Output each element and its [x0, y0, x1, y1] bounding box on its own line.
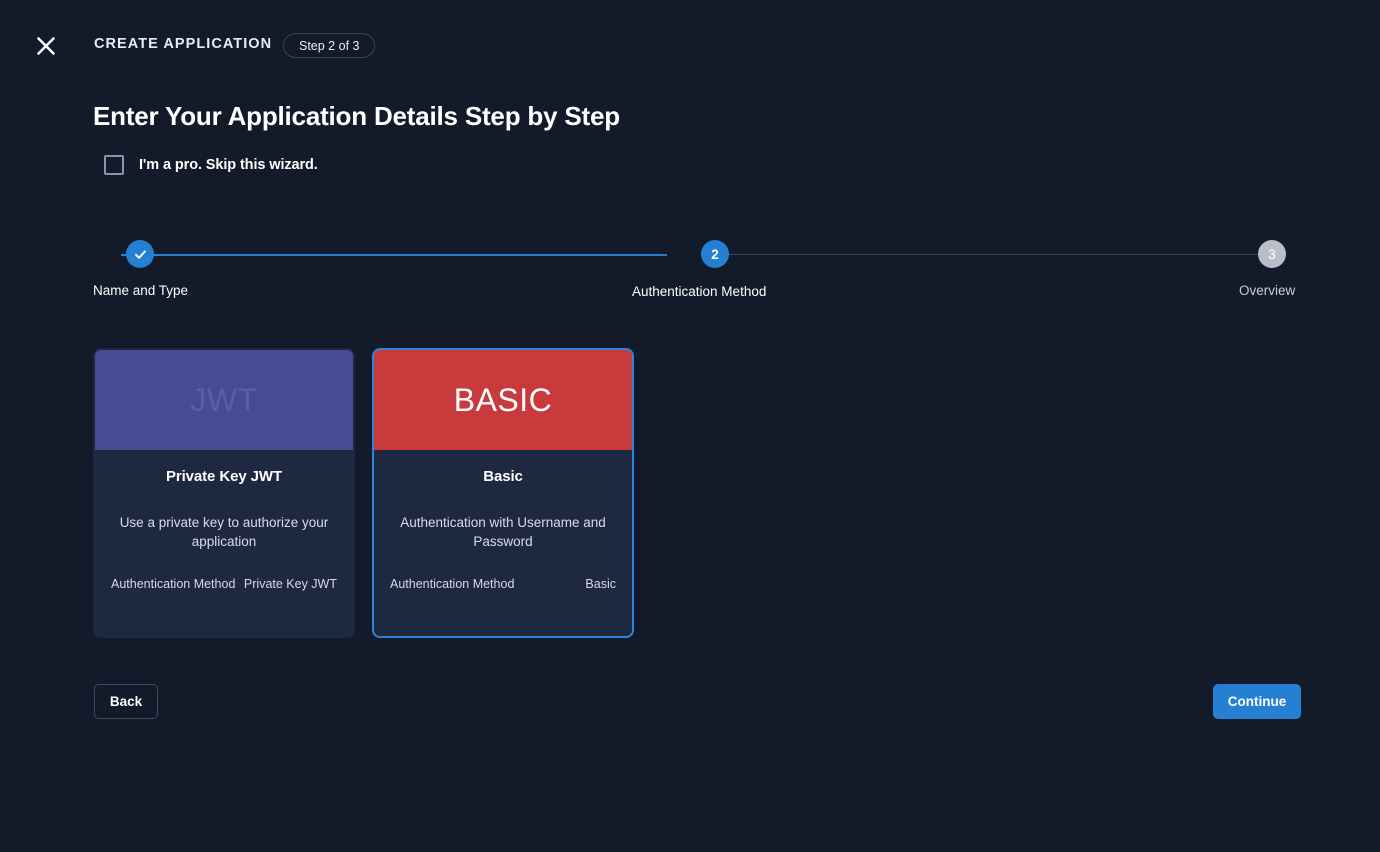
- card-banner-label: JWT: [190, 382, 257, 419]
- card-meta-key: Authentication Method: [111, 577, 235, 591]
- step-counter-badge: Step 2 of 3: [283, 33, 375, 58]
- card-banner-label: BASIC: [454, 382, 553, 419]
- continue-button[interactable]: Continue: [1213, 684, 1301, 719]
- card-body: Basic Authentication with Username and P…: [374, 450, 632, 636]
- stepper-node-3[interactable]: 3: [1258, 240, 1286, 268]
- back-button[interactable]: Back: [94, 684, 158, 719]
- stepper-node-2[interactable]: 2: [701, 240, 729, 268]
- stepper-label-2: Authentication Method: [632, 284, 766, 299]
- wizard-stepper: 2 3 Name and Type Authentication Method …: [93, 240, 1287, 310]
- auth-method-card-private-key-jwt[interactable]: JWT Private Key JWT Use a private key to…: [93, 348, 355, 638]
- wizard-topbar: CREATE APPLICATION Step 2 of 3: [0, 0, 1380, 92]
- card-title: Basic: [483, 468, 523, 485]
- card-body: Private Key JWT Use a private key to aut…: [95, 450, 353, 636]
- skip-wizard-checkbox[interactable]: [104, 155, 124, 175]
- auth-method-card-basic[interactable]: BASIC Basic Authentication with Username…: [372, 348, 634, 638]
- stepper-label-1: Name and Type: [93, 283, 188, 298]
- close-icon-glyph: [35, 35, 57, 57]
- wizard-title: CREATE APPLICATION: [94, 36, 272, 52]
- stepper-track: 2 3 Name and Type Authentication Method …: [93, 240, 1287, 270]
- page-title: Enter Your Application Details Step by S…: [93, 101, 620, 132]
- stepper-connector-2-3: [723, 254, 1269, 255]
- auth-method-card-list: JWT Private Key JWT Use a private key to…: [93, 348, 634, 638]
- card-banner-jwt: JWT: [95, 350, 353, 450]
- stepper-connector-1-2: [121, 254, 667, 256]
- check-icon: [133, 247, 148, 262]
- stepper-node-1[interactable]: [126, 240, 154, 268]
- card-meta-key: Authentication Method: [390, 577, 514, 591]
- create-application-wizard: CREATE APPLICATION Step 2 of 3 Enter You…: [0, 0, 1380, 852]
- stepper-label-3: Overview: [1239, 283, 1295, 298]
- card-meta-row: Authentication Method Private Key JWT: [111, 577, 337, 591]
- card-meta-value: Basic: [585, 577, 616, 591]
- card-meta-row: Authentication Method Basic: [390, 577, 616, 591]
- card-description: Authentication with Username and Passwor…: [396, 513, 611, 551]
- card-banner-basic: BASIC: [374, 350, 632, 450]
- card-meta-value: Private Key JWT: [244, 577, 337, 591]
- close-icon[interactable]: [30, 30, 62, 62]
- card-title: Private Key JWT: [166, 468, 282, 485]
- skip-wizard-label: I'm a pro. Skip this wizard.: [139, 157, 318, 173]
- card-description: Use a private key to authorize your appl…: [117, 513, 332, 551]
- skip-wizard-row[interactable]: I'm a pro. Skip this wizard.: [104, 155, 318, 175]
